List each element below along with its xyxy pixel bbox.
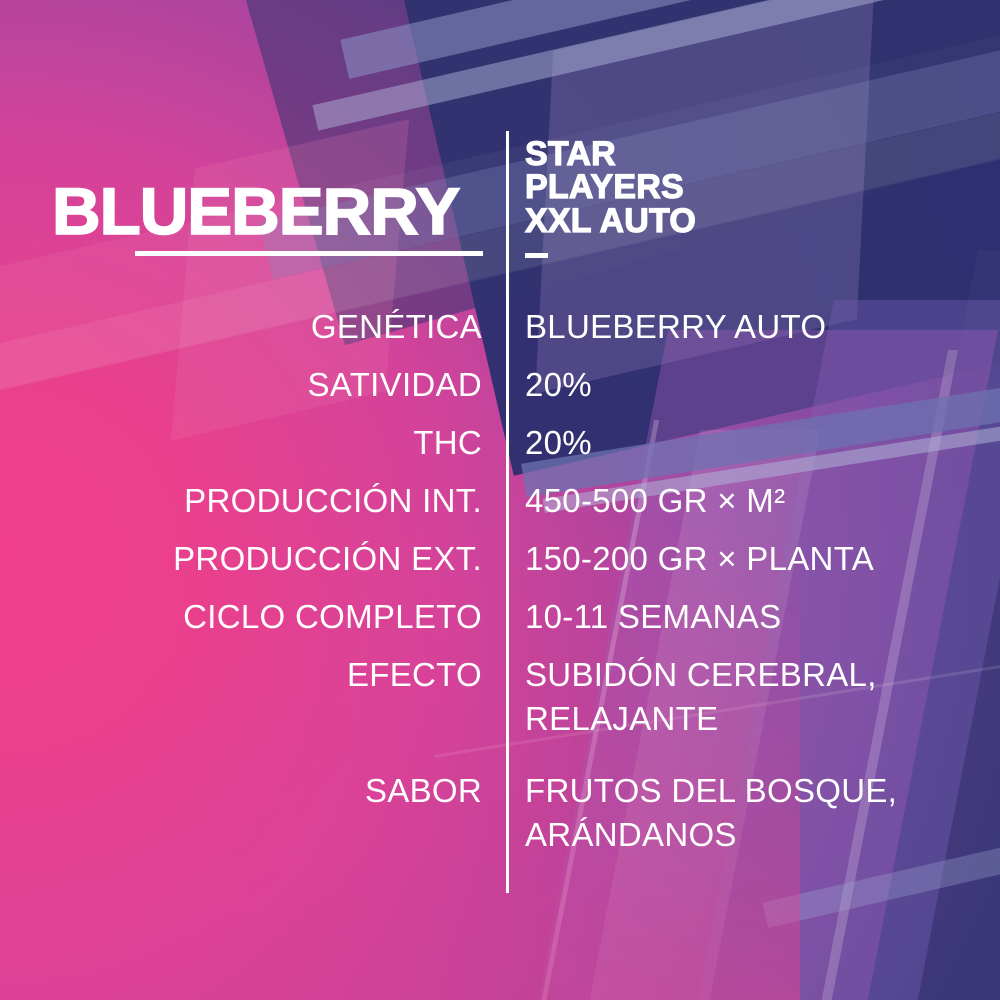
spec-label: SATIVIDAD (308, 363, 482, 407)
spec-value-line-2: RELAJANTE (525, 697, 877, 741)
spec-label: SABOR (365, 769, 482, 813)
spec-table: GENÉTICA BLUEBERRY AUTO SATIVIDAD 20% TH… (0, 305, 1000, 827)
strain-name: BLUEBERRY (52, 178, 493, 244)
spec-value: 150-200 GR × PLANTA (525, 537, 874, 581)
spec-label: PRODUCCIÓN INT. (184, 479, 482, 523)
spec-value-line-1: 20% (525, 366, 592, 403)
table-row: EFECTO SUBIDÓN CEREBRAL, RELAJANTE (0, 653, 1000, 711)
spec-value-line-1: 10-11 SEMANAS (525, 598, 781, 635)
table-row: SATIVIDAD 20% (0, 363, 1000, 421)
table-row: PRODUCCIÓN EXT. 150-200 GR × PLANTA (0, 537, 1000, 595)
spec-label: PRODUCCIÓN EXT. (173, 537, 482, 581)
spec-value-line-1: SUBIDÓN CEREBRAL, (525, 656, 877, 693)
series-line-2: PLAYERS (525, 171, 696, 204)
series-line-3: XXL AUTO (525, 205, 696, 238)
table-row: CICLO COMPLETO 10-11 SEMANAS (0, 595, 1000, 653)
spec-value: FRUTOS DEL BOSQUE, ARÁNDANOS (525, 769, 897, 857)
spec-value-line-1: 150-200 GR × PLANTA (525, 540, 874, 577)
spec-label: CICLO COMPLETO (183, 595, 482, 639)
spec-value: SUBIDÓN CEREBRAL, RELAJANTE (525, 653, 877, 741)
spec-value: 20% (525, 421, 592, 465)
spec-value-line-1: FRUTOS DEL BOSQUE, (525, 772, 897, 809)
strain-info-card: BLUEBERRY STAR PLAYERS XXL AUTO GENÉTICA… (0, 0, 1000, 1000)
spec-value-line-1: 450-500 GR × M² (525, 482, 785, 519)
series-title: STAR PLAYERS XXL AUTO (525, 138, 696, 238)
spec-value-line-2: ARÁNDANOS (525, 813, 897, 857)
table-row: THC 20% (0, 421, 1000, 479)
spec-value-line-1: BLUEBERRY AUTO (525, 308, 826, 345)
spec-value: BLUEBERRY AUTO (525, 305, 826, 349)
spec-value: 20% (525, 363, 592, 407)
series-title-underline (525, 253, 548, 258)
table-row: SABOR FRUTOS DEL BOSQUE, ARÁNDANOS (0, 769, 1000, 827)
spec-value: 10-11 SEMANAS (525, 595, 781, 639)
series-line-1: STAR (525, 138, 696, 171)
spec-value: 450-500 GR × M² (525, 479, 785, 523)
strain-name-underline (135, 251, 483, 256)
spec-label: THC (413, 421, 482, 465)
table-row: PRODUCCIÓN INT. 450-500 GR × M² (0, 479, 1000, 537)
spec-label: EFECTO (347, 653, 482, 697)
spec-label: GENÉTICA (311, 305, 482, 349)
table-row: GENÉTICA BLUEBERRY AUTO (0, 305, 1000, 363)
spec-value-line-1: 20% (525, 424, 592, 461)
